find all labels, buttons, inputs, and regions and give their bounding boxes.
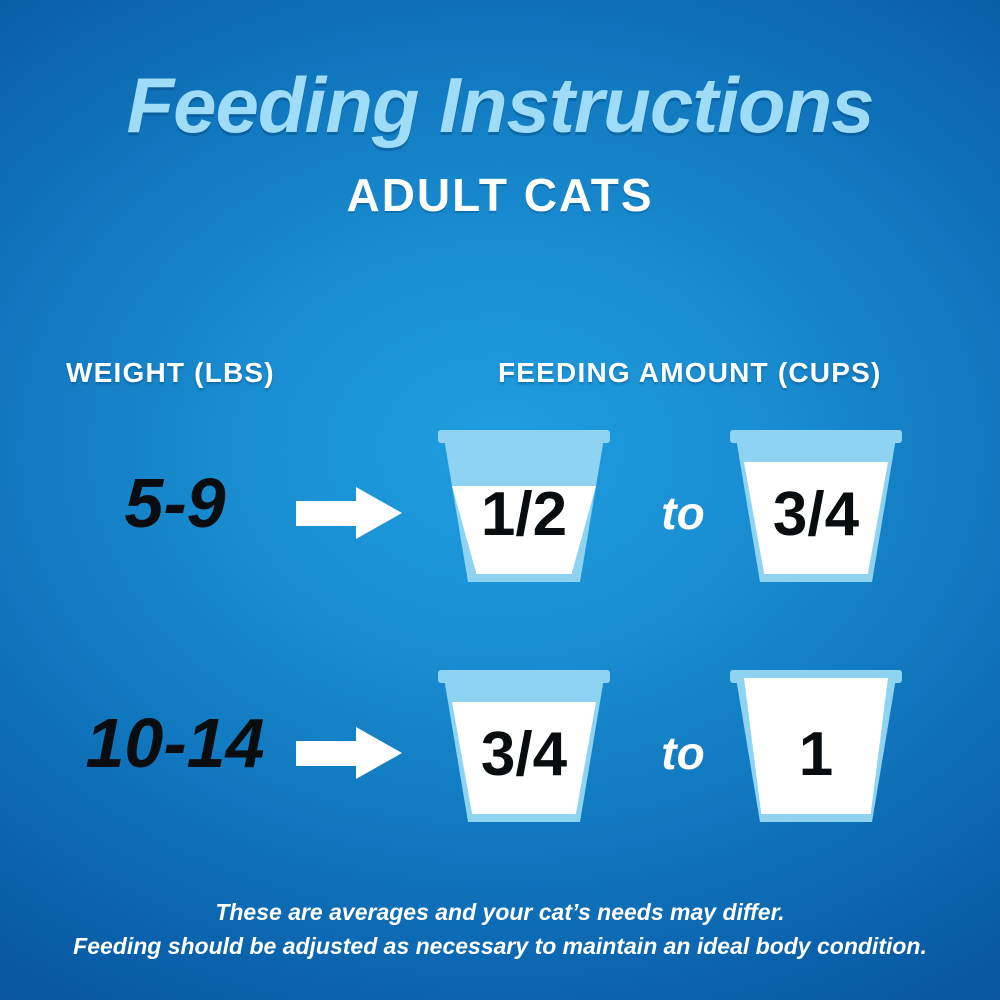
arrow-head — [356, 727, 402, 779]
arrow-shaft — [296, 501, 362, 526]
column-header-weight: WEIGHT (LBS) — [66, 357, 275, 389]
measuring-cup-max: 3/4 — [730, 430, 902, 582]
measuring-cup-min: 3/4 — [438, 670, 610, 822]
column-header-amount: FEEDING AMOUNT (CUPS) — [498, 357, 882, 389]
page-title: Feeding Instructions — [0, 62, 1000, 148]
cup-amount-label: 1/2 — [438, 482, 610, 548]
page-subtitle: ADULT CATS — [0, 168, 1000, 222]
footnote-line-1: These are averages and your cat’s needs … — [0, 895, 1000, 929]
arrow-head — [356, 487, 402, 539]
weight-range-label: 10-14 — [60, 703, 290, 783]
footnote: These are averages and your cat’s needs … — [0, 895, 1000, 963]
feeding-row: 5-9 1/2 to 3/4 — [0, 425, 1000, 605]
feeding-instructions-graphic: Feeding Instructions ADULT CATS WEIGHT (… — [0, 0, 1000, 1000]
range-connector: to — [628, 727, 738, 779]
range-connector: to — [628, 487, 738, 539]
cup-amount-label: 1 — [730, 722, 902, 788]
arrow-shaft — [296, 741, 362, 766]
weight-range-label: 5-9 — [60, 463, 290, 543]
cup-amount-label: 3/4 — [438, 722, 610, 788]
footnote-line-2: Feeding should be adjusted as necessary … — [0, 929, 1000, 963]
feeding-row: 10-14 3/4 to 1 — [0, 665, 1000, 845]
arrow-right-icon — [296, 727, 402, 779]
measuring-cup-min: 1/2 — [438, 430, 610, 582]
cup-amount-label: 3/4 — [730, 482, 902, 548]
measuring-cup-max: 1 — [730, 670, 902, 822]
arrow-right-icon — [296, 487, 402, 539]
